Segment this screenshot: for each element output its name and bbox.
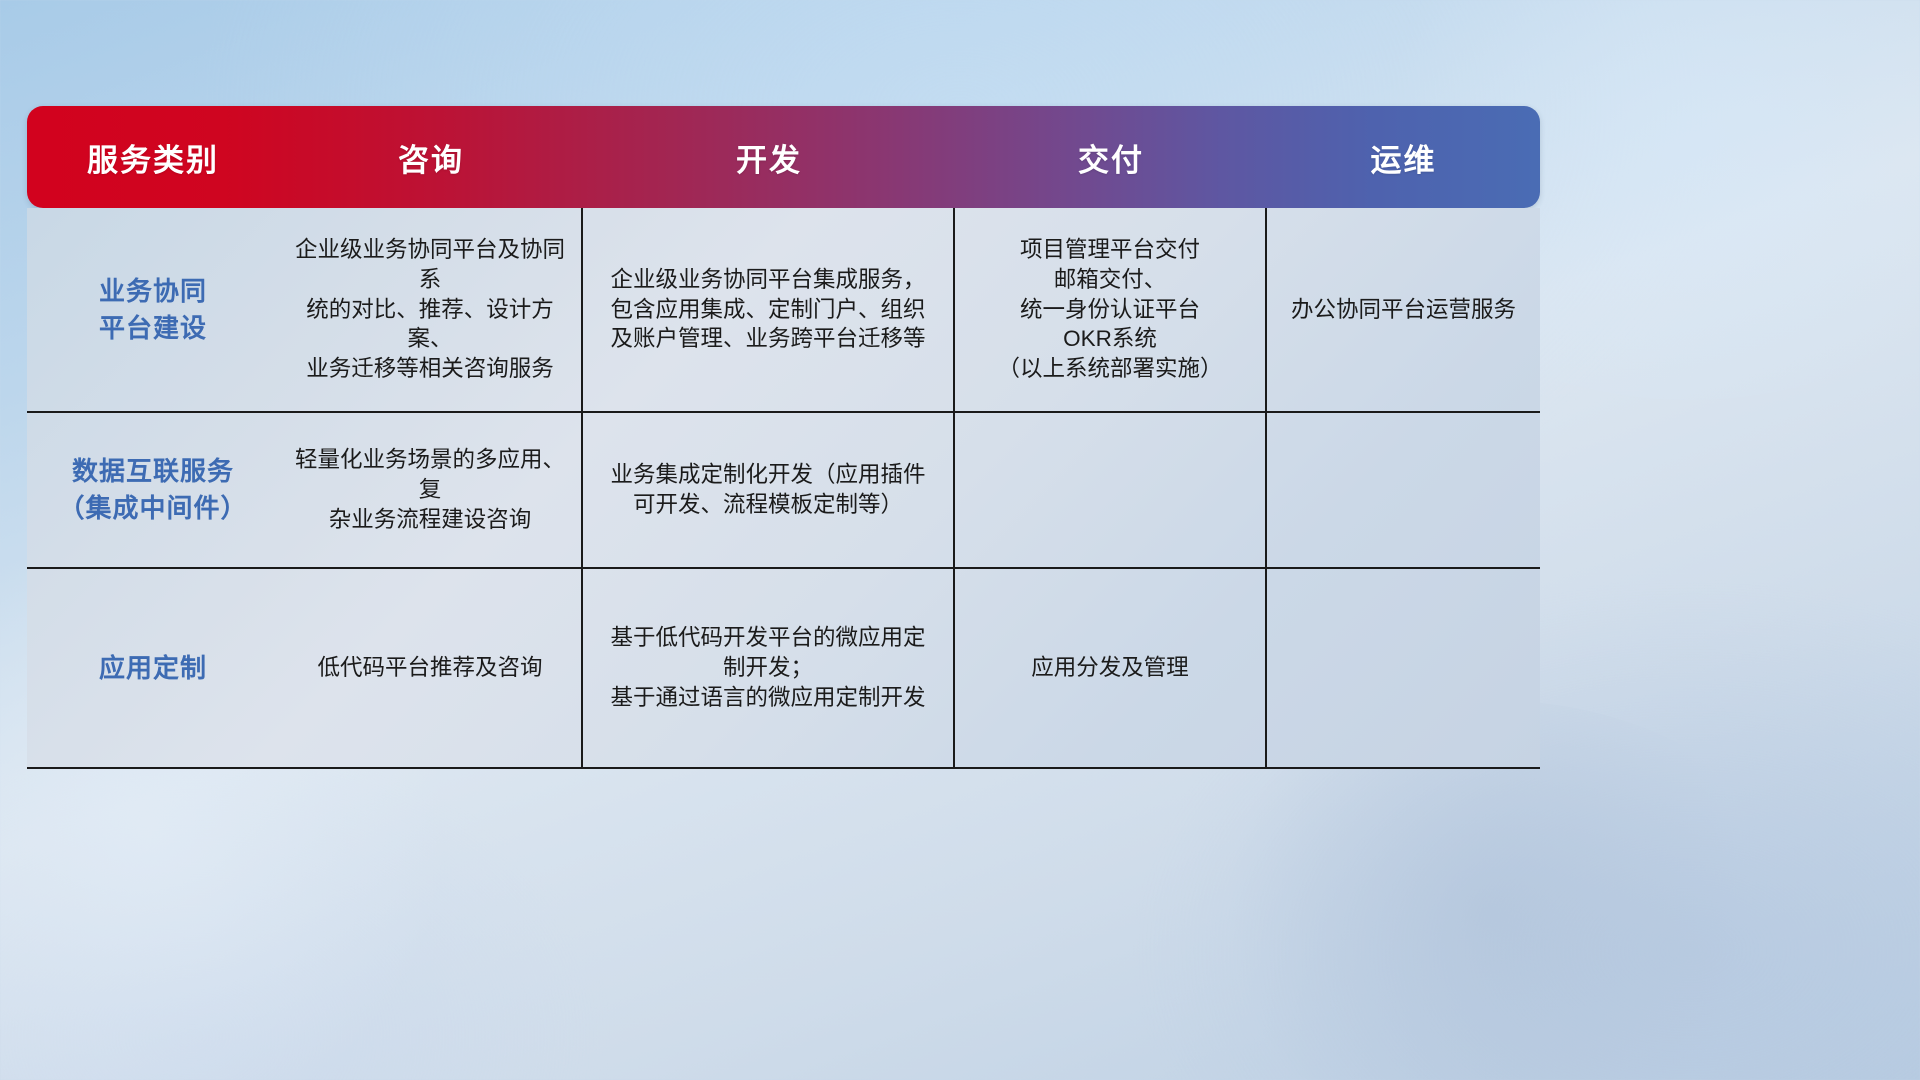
cell-consulting: 轻量化业务场景的多应用、复 杂业务流程建设咨询 <box>279 413 583 567</box>
column-header-category: 服务类别 <box>27 106 279 208</box>
cell-operations <box>1267 413 1540 567</box>
cell-delivery: 应用分发及管理 <box>955 569 1267 767</box>
table-header-row: 服务类别 咨询 开发 交付 运维 <box>27 106 1540 208</box>
cell-delivery <box>955 413 1267 567</box>
table-row: 数据互联服务 （集成中间件） 轻量化业务场景的多应用、复 杂业务流程建设咨询 业… <box>27 413 1540 569</box>
table-row: 应用定制 低代码平台推荐及咨询 基于低代码开发平台的微应用定 制开发； 基于通过… <box>27 569 1540 769</box>
cell-consulting: 企业级业务协同平台及协同系 统的对比、推荐、设计方案、 业务迁移等相关咨询服务 <box>279 208 583 411</box>
cell-operations: 办公协同平台运营服务 <box>1267 208 1540 411</box>
row-category-label: 数据互联服务 （集成中间件） <box>27 413 279 567</box>
column-header-delivery: 交付 <box>955 106 1267 208</box>
row-category-label: 业务协同 平台建设 <box>27 208 279 411</box>
cell-consulting: 低代码平台推荐及咨询 <box>279 569 583 767</box>
cell-development: 业务集成定制化开发（应用插件 可开发、流程模板定制等） <box>583 413 955 567</box>
service-matrix-table: 服务类别 咨询 开发 交付 运维 业务协同 平台建设 企业级业务协同平台及协同系… <box>27 106 1540 769</box>
column-header-operations: 运维 <box>1267 106 1540 208</box>
cell-operations <box>1267 569 1540 767</box>
column-header-development: 开发 <box>583 106 955 208</box>
cell-development: 基于低代码开发平台的微应用定 制开发； 基于通过语言的微应用定制开发 <box>583 569 955 767</box>
table-body: 业务协同 平台建设 企业级业务协同平台及协同系 统的对比、推荐、设计方案、 业务… <box>27 208 1540 769</box>
cell-development: 企业级业务协同平台集成服务， 包含应用集成、定制门户、组织 及账户管理、业务跨平… <box>583 208 955 411</box>
row-category-label: 应用定制 <box>27 569 279 767</box>
table-row: 业务协同 平台建设 企业级业务协同平台及协同系 统的对比、推荐、设计方案、 业务… <box>27 208 1540 413</box>
cell-delivery: 项目管理平台交付 邮箱交付、 统一身份认证平台 OKR系统 （以上系统部署实施） <box>955 208 1267 411</box>
column-header-consulting: 咨询 <box>279 106 583 208</box>
